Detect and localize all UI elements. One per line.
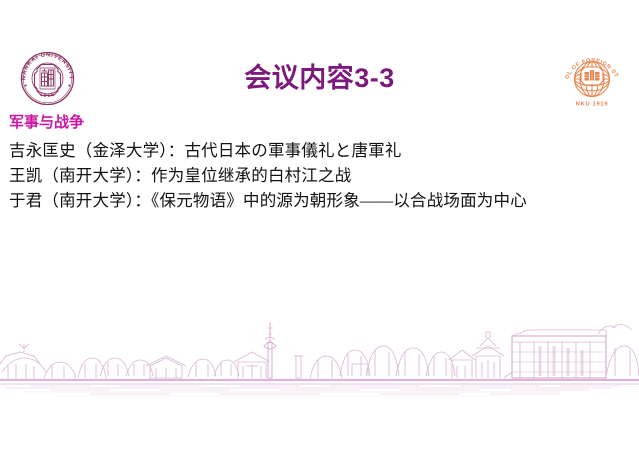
campus-skyline-illustration (0, 306, 639, 416)
section-heading-military-and-war: 军事与战争 (9, 112, 630, 134)
agenda-line: 王凯（南开大学）：作为皇位继承的白村江之战 (9, 163, 630, 188)
page-title: 会议内容3-3 (0, 62, 639, 94)
svg-text:NKU 1919: NKU 1919 (576, 102, 608, 108)
agenda-line: 于君（南开大学）：《保元物语》中的源为朝形象——以合战场面为中心 (9, 188, 630, 213)
slide-canvas: NANKAI UNIVERSITY 1919 (0, 0, 639, 452)
content-block: 军事与战争 吉永匡史（金泽大学）：古代日本の軍事儀礼と唐軍礼 王凯（南开大学）：… (9, 112, 630, 213)
agenda-line: 吉永匡史（金泽大学）：古代日本の軍事儀礼と唐軍礼 (9, 138, 630, 163)
